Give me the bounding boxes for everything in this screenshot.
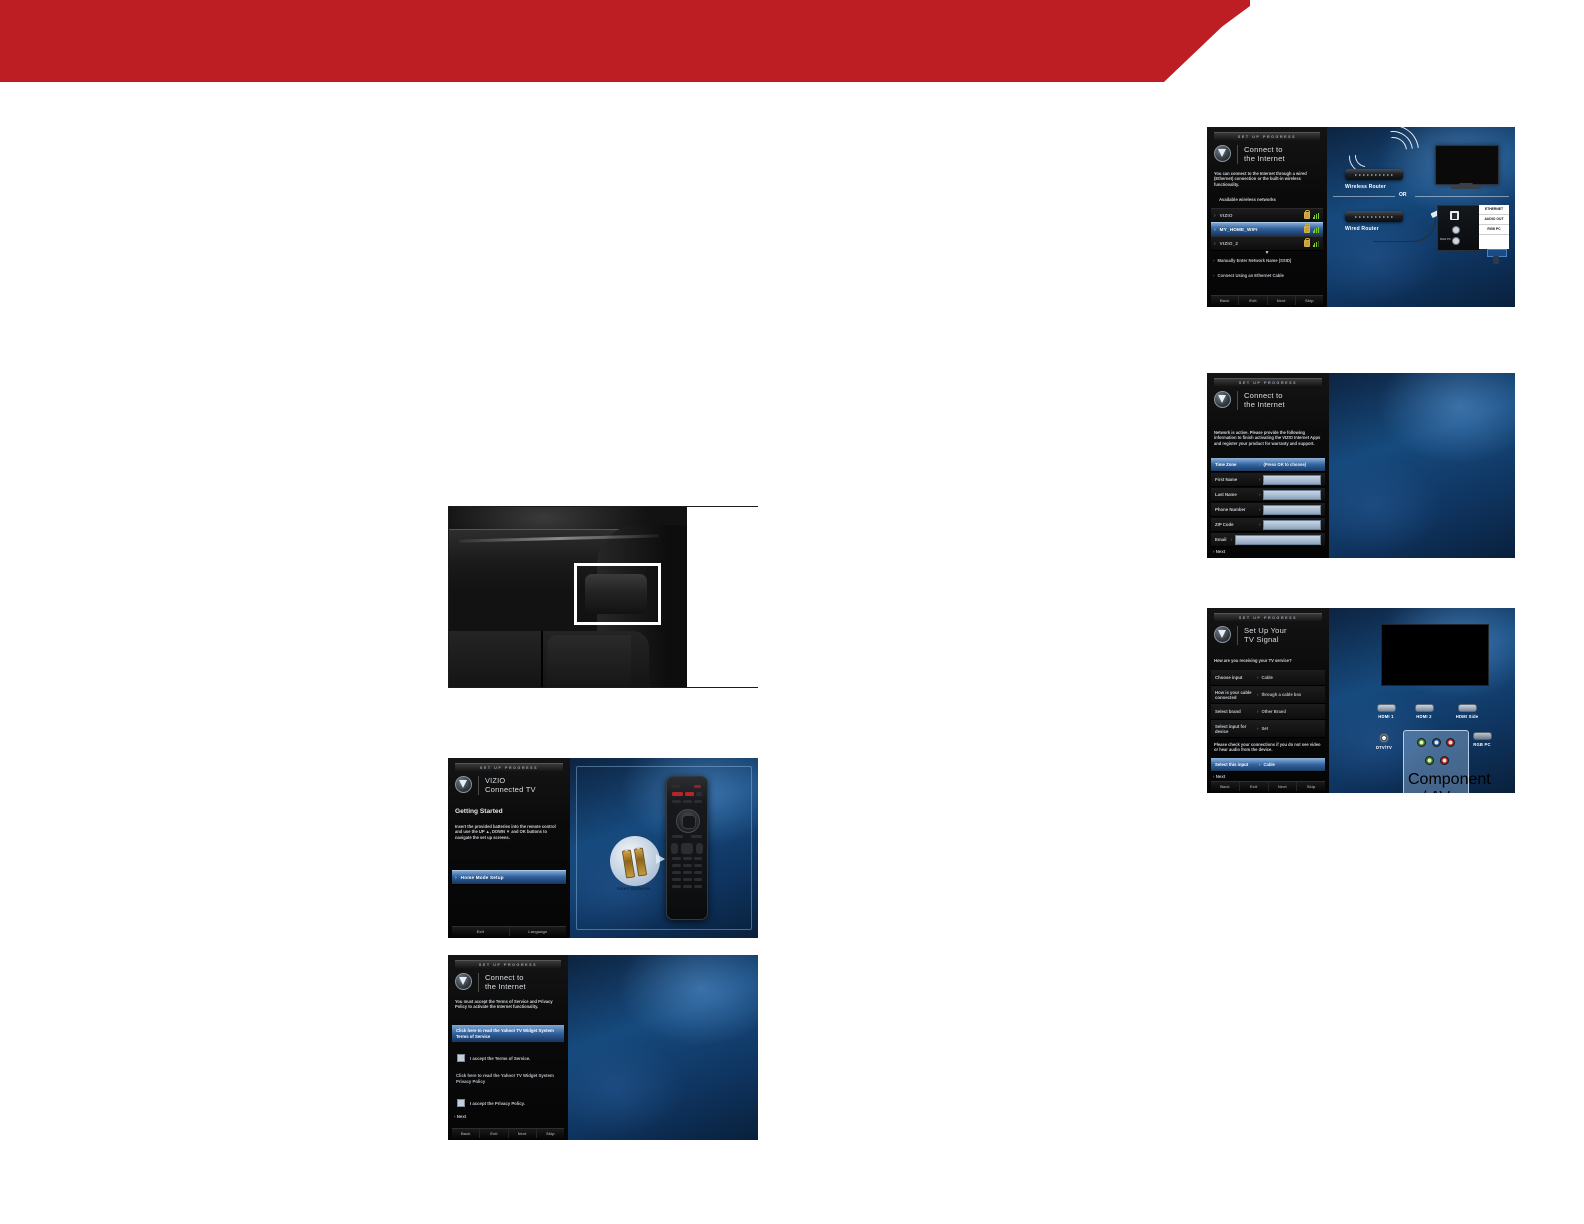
wireless-router-icon: [1345, 169, 1403, 180]
wifi-title-2: the Internet: [1244, 154, 1285, 163]
gs-brand: VIZIO: [485, 776, 536, 785]
chevron-right-icon: ›: [1213, 273, 1215, 278]
wifi-network-label: VIZIO: [1220, 213, 1233, 218]
input-label: Component / AV: [1408, 771, 1464, 793]
tos-checkbox[interactable]: [457, 1054, 465, 1062]
port-callout-ethernet: ETHERNET: [1479, 205, 1509, 215]
sig-next-label: Next: [1216, 774, 1226, 779]
tv-rear-ports-panel: RGB PC: [1437, 205, 1481, 251]
reg-field-phone-number[interactable]: Phone Number ›: [1211, 503, 1325, 517]
reg-input-zip-code[interactable]: [1263, 520, 1321, 530]
terms-progress-bar: SET UP PROGRESS: [455, 960, 561, 969]
battery-callout-tail: [656, 854, 665, 864]
terms-title-1: Connect to: [485, 973, 526, 982]
reg-field-label: Last Name: [1211, 492, 1259, 497]
chevron-right-icon: ›: [1214, 213, 1216, 219]
screen-getting-started: SET UP PROGRESS VIZIO Connected TV Getti…: [448, 758, 758, 938]
sig-row-value: Other Brand: [1261, 709, 1285, 714]
chevron-right-icon: ›: [455, 875, 457, 881]
wifi-btn-skip[interactable]: Skip: [1296, 296, 1323, 305]
panel-port-note: RGB PC: [1440, 237, 1451, 241]
sig-note: Please check your connections if you do …: [1214, 742, 1324, 753]
wifi-bottom-bar: Back Exit Next Skip: [1211, 295, 1323, 305]
wireless-router-label: Wireless Router: [1345, 184, 1386, 190]
chevron-right-icon: ›: [1257, 692, 1258, 697]
wifi-section-label: Available wireless networks: [1219, 197, 1276, 202]
screen-internet-terms: SET UP PROGRESS Connect to the Internet …: [448, 955, 758, 1140]
sig-row-value: Cable: [1261, 675, 1272, 680]
wifi-ethernet-label: Connect Using an Ethernet Cable: [1218, 273, 1284, 278]
sig-title-1: Set Up Your: [1244, 626, 1287, 635]
hdmi-port-icon: [1377, 704, 1396, 712]
rgb-port-icon: [1452, 237, 1460, 245]
wifi-network-my-home-wifi[interactable]: › MY_HOME_WIFI: [1211, 222, 1323, 237]
rca-ports-icon: [1416, 734, 1456, 769]
reg-title-2: the Internet: [1244, 400, 1285, 409]
gs-title: Connected TV: [485, 785, 536, 794]
sig-row-label: How is your cable connected: [1211, 690, 1257, 700]
terms-btn-exit[interactable]: Exit: [480, 1129, 508, 1138]
gs-btn-exit[interactable]: Exit: [452, 927, 510, 936]
signal-icon: [1313, 241, 1319, 247]
banner-shape: [0, 0, 1250, 82]
reg-progress-label: SET UP PROGRESS: [1214, 379, 1322, 387]
tv-stand-base: [1451, 186, 1481, 189]
tv-lower-panel-right: [547, 635, 631, 687]
sig-btn-next[interactable]: Next: [1269, 782, 1298, 791]
lock-icon: [1304, 226, 1310, 233]
terms-btn-next[interactable]: Next: [509, 1129, 537, 1138]
wifi-btn-next[interactable]: Next: [1268, 296, 1296, 305]
reg-input-first-name[interactable]: [1263, 475, 1321, 485]
gs-selected-item-label: Home Mode Setup: [461, 875, 504, 880]
panel-connector: [1493, 256, 1499, 264]
wifi-network-label: MY_HOME_WIFI: [1220, 227, 1258, 232]
gs-header: VIZIO Connected TV: [455, 776, 536, 795]
lock-icon: [1304, 240, 1310, 247]
gs-progress-bar: SET UP PROGRESS: [455, 763, 563, 772]
gs-heading: Getting Started: [455, 808, 503, 815]
terms-body-text: You must accept the Terms of Service and…: [455, 999, 559, 1010]
sig-row-select-brand[interactable]: Select brand › Other Brand: [1211, 704, 1325, 720]
vizio-logo-icon: [455, 776, 472, 793]
gs-body-text: Insert the provided batteries into the r…: [455, 824, 559, 840]
terms-right-panel: [568, 955, 758, 1140]
gs-home-mode-setup-item[interactable]: › Home Mode Setup: [452, 870, 566, 885]
reg-next-row[interactable]: › Next: [1213, 549, 1225, 554]
sig-progress-label: SET UP PROGRESS: [1214, 614, 1322, 622]
wifi-network-label: VIZIO_2: [1220, 241, 1239, 246]
sig-next-row[interactable]: › Next: [1213, 774, 1225, 779]
reg-field-value: (Press OK to choose): [1263, 462, 1306, 467]
sig-btn-exit[interactable]: Exit: [1240, 782, 1269, 791]
tv-illustration: [1435, 145, 1499, 185]
chevron-right-icon: ›: [1259, 507, 1260, 512]
wifi-body-text: You can connect to the Internet through …: [1214, 171, 1318, 187]
sig-title-2: TV Signal: [1244, 635, 1287, 644]
sig-left-panel: SET UP PROGRESS Set Up Your TV Signal Ho…: [1207, 608, 1329, 793]
input-label: HDMI 1: [1369, 714, 1403, 719]
or-divider-left: [1333, 196, 1395, 197]
reg-input-phone-number[interactable]: [1263, 505, 1321, 515]
reg-right-panel: [1329, 373, 1515, 558]
sig-selected-value: Cable: [1263, 762, 1274, 767]
power-button-highlight-box: [574, 563, 661, 625]
sig-header: Set Up Your TV Signal: [1214, 626, 1287, 645]
or-label: OR: [1399, 192, 1407, 198]
chevron-right-icon: ›: [1257, 726, 1258, 731]
reg-input-last-name[interactable]: [1263, 490, 1321, 500]
reg-input-email[interactable]: [1235, 535, 1321, 545]
wifi-progress-label: SET UP PROGRESS: [1214, 133, 1320, 141]
tos-checkbox-row[interactable]: I accept the Terms of Service.: [457, 1054, 530, 1062]
privacy-checkbox[interactable]: [457, 1099, 465, 1107]
tos-checkbox-label: I accept the Terms of Service.: [470, 1056, 530, 1061]
wifi-btn-exit[interactable]: Exit: [1239, 296, 1267, 305]
reg-next-label: Next: [1216, 549, 1226, 554]
gs-left-panel: SET UP PROGRESS VIZIO Connected TV Getti…: [448, 758, 570, 938]
terms-btn-skip[interactable]: Skip: [537, 1129, 564, 1138]
signal-icon: [1313, 213, 1319, 219]
input-hdmi-1[interactable]: HDMI 1: [1369, 704, 1403, 719]
chevron-right-icon: ›: [1259, 477, 1260, 482]
wifi-manual-ssid-label: Manually Enter Network Name (SSID): [1218, 258, 1292, 263]
coax-port-icon: [1379, 733, 1389, 743]
input-component-av[interactable]: Component / AV: [1403, 730, 1469, 793]
reg-field-label: First Name: [1211, 477, 1259, 482]
port-callout-list: ETHERNET AUDIO OUT RGB PC: [1479, 205, 1509, 249]
screen-wireless-networks: SET UP PROGRESS Connect to the Internet …: [1207, 127, 1515, 307]
hdmi-port-icon: [1415, 704, 1434, 712]
wifi-manual-ssid-item[interactable]: › Manually Enter Network Name (SSID): [1213, 258, 1291, 263]
chevron-right-icon: ›: [1214, 241, 1216, 247]
reg-field-label: ZIP Code: [1211, 522, 1259, 527]
sig-row-cable-connected[interactable]: How is your cable connected › through a …: [1211, 686, 1325, 704]
scroll-down-icon[interactable]: ▼: [1207, 250, 1327, 256]
signal-icon: [1313, 227, 1319, 233]
chevron-right-icon: ›: [1259, 762, 1260, 767]
terms-of-service-link[interactable]: Click here to read the Yahoo! TV Widget …: [452, 1025, 564, 1042]
wifi-right-panel: Wireless Router OR Wired Router RGB PC E…: [1327, 127, 1515, 307]
input-label: RGB PC: [1465, 742, 1499, 747]
sig-row-select-input[interactable]: Select input for device › Set: [1211, 720, 1325, 738]
terms-left-panel: SET UP PROGRESS Connect to the Internet …: [448, 955, 568, 1140]
terms-bottom-bar: Back Exit Next Skip: [452, 1128, 564, 1138]
wifi-left-panel: SET UP PROGRESS Connect to the Internet …: [1207, 127, 1327, 307]
sig-right-panel: HDMI 1 HDMI 2 HDMI Side DTV/TV Component…: [1329, 608, 1515, 793]
screen-registration: SET UP PROGRESS Connect to the Internet …: [1207, 373, 1515, 558]
input-hdmi-side[interactable]: HDMI Side: [1447, 704, 1487, 719]
reg-title-1: Connect to: [1244, 391, 1285, 400]
reg-header: Connect to the Internet: [1214, 391, 1285, 410]
remote-control-illustration: [666, 776, 708, 920]
sig-btn-skip[interactable]: Skip: [1297, 782, 1325, 791]
sig-progress-bar: SET UP PROGRESS: [1214, 613, 1322, 622]
terms-title-2: the Internet: [485, 982, 526, 991]
chevron-right-icon: ›: [1214, 227, 1216, 233]
hdmi-port-icon: [1458, 704, 1477, 712]
privacy-checkbox-row[interactable]: I accept the Privacy Policy.: [457, 1099, 525, 1107]
sig-row-label: Choose input: [1211, 675, 1257, 680]
chevron-right-icon: ›: [1259, 462, 1260, 467]
banner-notch-shape: [1190, 0, 1250, 40]
wifi-ethernet-item[interactable]: › Connect Using an Ethernet Cable: [1213, 273, 1284, 278]
chevron-right-icon: ›: [1257, 709, 1258, 714]
chevron-right-icon: ›: [1259, 522, 1260, 527]
gs-inner-frame: [576, 766, 752, 930]
input-label: HDMI 2: [1407, 714, 1441, 719]
battery-callout-label: Insert Batteries: [617, 886, 650, 891]
input-label: DTV/TV: [1369, 745, 1399, 750]
lock-icon: [1304, 212, 1310, 219]
reg-field-time-zone[interactable]: Time Zone › (Press OK to choose): [1211, 458, 1325, 472]
sig-row-value: Set: [1261, 726, 1268, 731]
wifi-title-1: Connect to: [1244, 145, 1285, 154]
sig-row-value: through a cable box: [1261, 692, 1301, 697]
sig-bottom-bar: Back Exit Next Skip: [1211, 781, 1325, 791]
sig-row-label: Select brand: [1211, 709, 1257, 714]
input-label: HDMI Side: [1447, 714, 1487, 719]
reg-field-email[interactable]: Email ›: [1211, 533, 1325, 547]
reg-left-panel: SET UP PROGRESS Connect to the Internet …: [1207, 373, 1329, 558]
page-banner: [0, 0, 1584, 82]
port-callout-rgb-pc: RGB PC: [1479, 225, 1509, 235]
vizio-logo-icon: [1214, 391, 1231, 408]
audio-port-icon: [1452, 226, 1460, 234]
input-dtv-tv[interactable]: DTV/TV: [1369, 733, 1399, 750]
chevron-right-icon: ›: [1257, 675, 1258, 680]
screen-tv-signal: SET UP PROGRESS Set Up Your TV Signal Ho…: [1207, 608, 1515, 793]
gs-right-panel: Insert Batteries: [570, 758, 758, 938]
vizio-logo-icon: [1214, 626, 1231, 643]
tv-rear-panel-photo: [449, 507, 687, 687]
ethernet-port-icon: [1450, 211, 1459, 220]
wifi-network-vizio-2[interactable]: › VIZIO_2: [1211, 236, 1323, 251]
terms-progress-label: SET UP PROGRESS: [455, 961, 561, 969]
vizio-logo-icon: [455, 973, 472, 990]
terms-header: Connect to the Internet: [455, 973, 526, 992]
port-callout-audio-out: AUDIO OUT: [1479, 215, 1509, 225]
gs-bottom-bar: Exit Language: [452, 926, 566, 936]
reg-field-label: Email: [1211, 537, 1231, 542]
vizio-logo-icon: [1214, 145, 1231, 162]
reg-field-last-name[interactable]: Last Name ›: [1211, 488, 1325, 502]
gs-progress-label: SET UP PROGRESS: [455, 764, 563, 772]
privacy-checkbox-label: I accept the Privacy Policy.: [470, 1101, 525, 1106]
sig-btn-back[interactable]: Back: [1211, 782, 1240, 791]
wifi-btn-back[interactable]: Back: [1211, 296, 1239, 305]
or-divider-right: [1415, 196, 1509, 197]
sig-selected-label: Select this input: [1211, 762, 1259, 767]
reg-field-first-name[interactable]: First Name ›: [1211, 473, 1325, 487]
wifi-header: Connect to the Internet: [1214, 145, 1285, 164]
sig-question: How are you receiving your TV service?: [1214, 658, 1324, 663]
tv-preview-screen: [1381, 624, 1489, 686]
vga-port-icon: [1473, 732, 1492, 740]
terms-next-label: Next: [457, 1114, 467, 1119]
terms-btn-back[interactable]: Back: [452, 1129, 480, 1138]
ethernet-cable: [1373, 219, 1436, 242]
gs-btn-language[interactable]: Language: [510, 927, 567, 936]
wifi-network-vizio[interactable]: › VIZIO: [1211, 208, 1323, 223]
chevron-right-icon: ›: [1231, 537, 1232, 542]
sig-row-choose-input[interactable]: Choose input › Cable: [1211, 670, 1325, 686]
input-rgb-pc[interactable]: RGB PC: [1465, 732, 1499, 747]
input-hdmi-2[interactable]: HDMI 2: [1407, 704, 1441, 719]
reg-field-label: Time Zone: [1211, 462, 1259, 467]
reg-progress-bar: SET UP PROGRESS: [1214, 378, 1322, 387]
sig-row-selected-input[interactable]: Select this input › Cable: [1211, 758, 1325, 772]
privacy-policy-link[interactable]: Click here to read the Yahoo! TV Widget …: [456, 1073, 556, 1084]
chevron-right-icon: ›: [1259, 492, 1260, 497]
reg-field-zip-code[interactable]: ZIP Code ›: [1211, 518, 1325, 532]
reg-body-text: Network is active. Please provide the fo…: [1214, 430, 1322, 446]
tv-panel-seam: [541, 631, 543, 687]
reg-field-label: Phone Number: [1211, 507, 1259, 512]
chevron-right-icon: ›: [1213, 258, 1215, 263]
sig-row-label: Select input for device: [1211, 724, 1257, 734]
tv-power-button-photo: [448, 506, 758, 688]
terms-next-row[interactable]: › Next: [454, 1114, 466, 1119]
wifi-progress-bar: SET UP PROGRESS: [1214, 132, 1320, 141]
photo-white-area: [687, 507, 758, 687]
